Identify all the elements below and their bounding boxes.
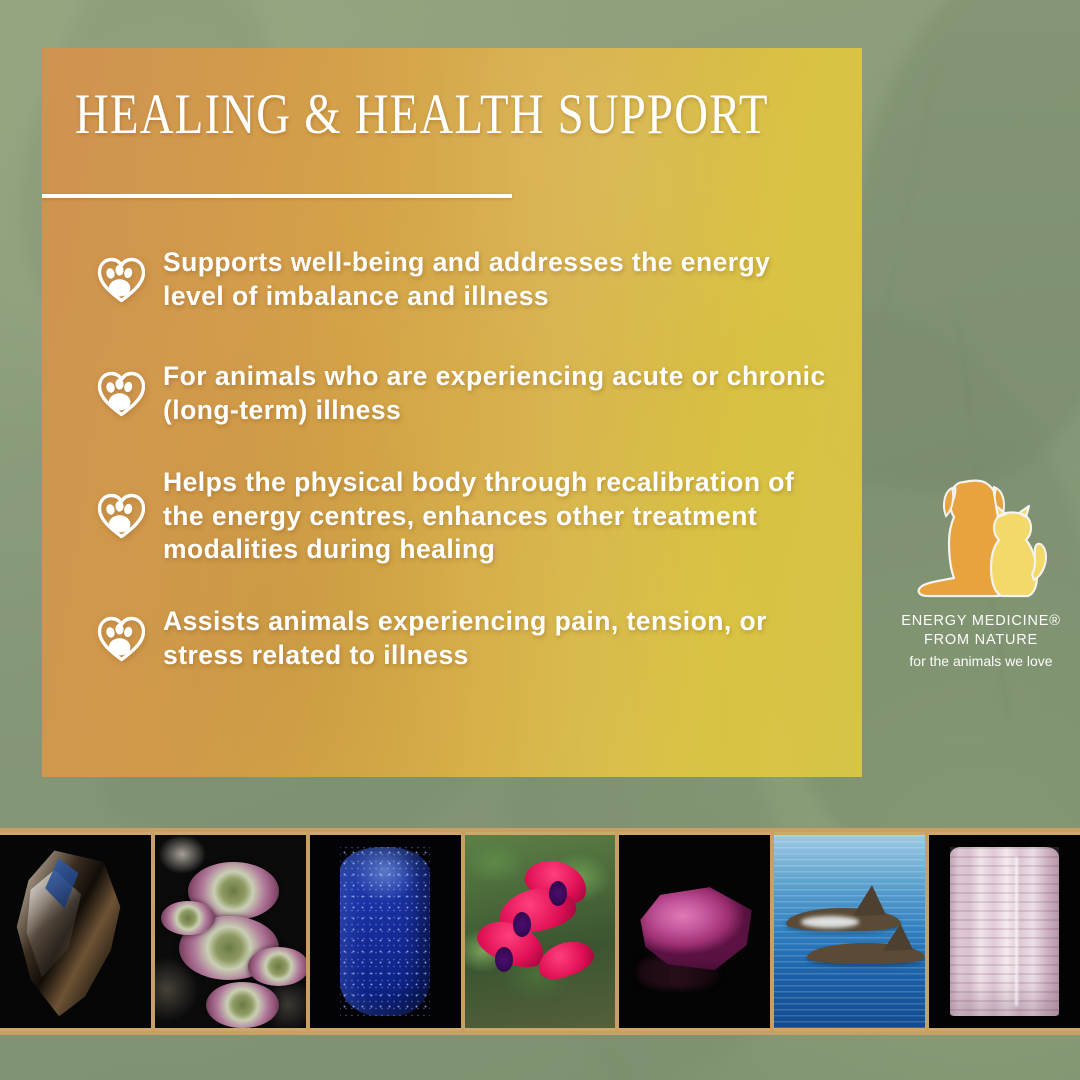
photo-image xyxy=(0,835,151,1028)
heart-paw-icon xyxy=(93,611,149,667)
heart-paw-icon xyxy=(93,252,149,308)
brand-logo: ENERGY MEDICINE® FROM NATURE for the ani… xyxy=(896,462,1066,671)
heart-paw-icon xyxy=(93,488,149,544)
logo-tagline: for the animals we love xyxy=(896,652,1066,670)
photo-sea-anemones xyxy=(155,832,306,1031)
list-item-label: Helps the physical body through recalibr… xyxy=(163,466,833,568)
list-item-label: Supports well-being and addresses the en… xyxy=(163,246,833,314)
bullet-list: Supports well-being and addresses the en… xyxy=(93,246,833,673)
list-item: Assists animals experiencing pain, tensi… xyxy=(93,605,833,673)
photo-image xyxy=(310,835,461,1028)
content-card: HEALING & HEALTH SUPPORT Supports well-b… xyxy=(42,48,862,777)
photo-fuchsia-flowers xyxy=(465,832,616,1031)
logo-line-2: FROM NATURE xyxy=(896,631,1066,650)
logo-line-1: ENERGY MEDICINE® xyxy=(896,612,1066,631)
photo-azurite-blue-mineral xyxy=(310,832,461,1031)
list-item: Helps the physical body through recalibr… xyxy=(93,466,833,568)
heart-paw-icon xyxy=(93,366,149,422)
dog-and-cat-silhouette-icon xyxy=(906,462,1056,612)
list-item-label: Assists animals experiencing pain, tensi… xyxy=(163,605,833,673)
list-item: For animals who are experiencing acute o… xyxy=(93,360,833,428)
photo-pink-kunzite-crystal xyxy=(929,832,1080,1031)
list-item: Supports well-being and addresses the en… xyxy=(93,246,833,314)
list-item-label: For animals who are experiencing acute o… xyxy=(163,360,833,428)
photo-image xyxy=(465,835,616,1028)
photo-image xyxy=(929,835,1080,1028)
page-title: HEALING & HEALTH SUPPORT xyxy=(75,86,769,143)
photo-pink-ruby-mineral xyxy=(619,832,770,1031)
photo-image xyxy=(774,835,925,1028)
photo-image xyxy=(155,835,306,1028)
photo-image xyxy=(619,835,770,1028)
photo-strip xyxy=(0,828,1080,1035)
photo-dolphins-in-ocean xyxy=(774,832,925,1031)
logo-caption: ENERGY MEDICINE® FROM NATURE for the ani… xyxy=(896,612,1066,671)
title-divider xyxy=(42,194,512,198)
photo-smoky-quartz-crystal xyxy=(0,832,151,1031)
